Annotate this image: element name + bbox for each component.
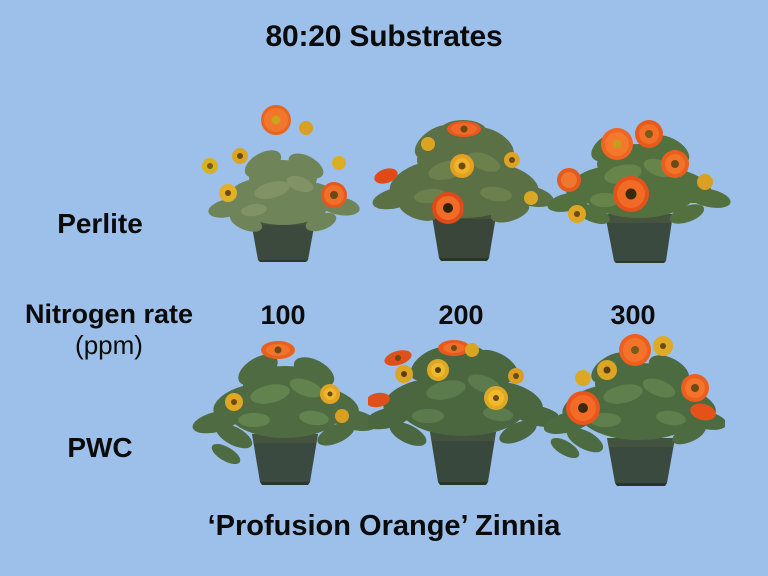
plant-photo-perlite-100 [188,98,378,263]
plant-photo-pwc-300 [535,330,725,495]
plant-photo-perlite-200 [368,98,558,263]
nitrogen-rate-value-100: 100 [228,300,338,331]
pot-pwc-200 [430,432,496,485]
plant-photo-perlite-300 [545,98,735,263]
row-label-pwc: PWC [0,432,200,464]
slide-canvas: 80:20 Substrates [0,0,768,576]
nitrogen-rate-units: (ppm) [0,330,218,361]
pot-perlite-300 [605,214,673,263]
nitrogen-rate-value-200: 200 [406,300,516,331]
nitrogen-rate-label: Nitrogen rate [0,299,218,330]
pot-pwc-100 [252,434,318,485]
nitrogen-rate-value-300: 300 [578,300,688,331]
plant-photo-pwc-200 [368,330,558,495]
plant-photo-pwc-100 [190,330,380,495]
slide-caption: ‘Profusion Orange’ Zinnia [0,510,768,543]
pot-pwc-300 [607,438,675,486]
page-title: 80:20 Substrates [0,20,768,54]
row-label-perlite: Perlite [0,208,200,240]
